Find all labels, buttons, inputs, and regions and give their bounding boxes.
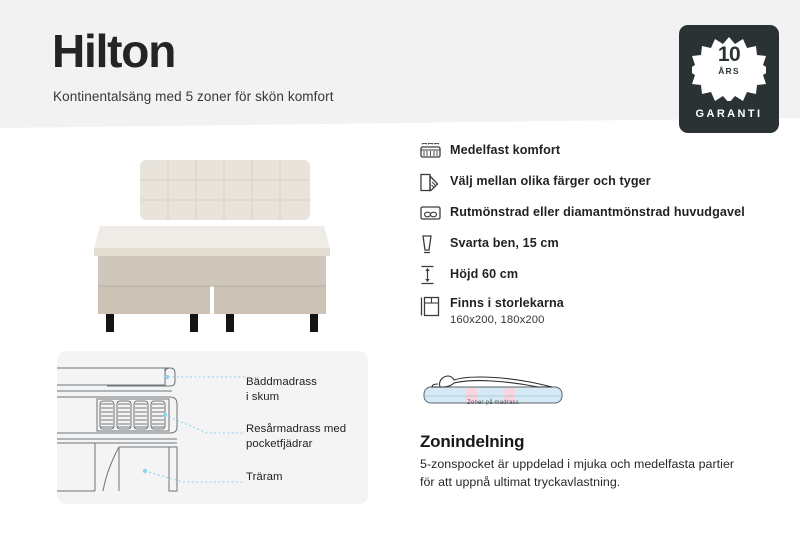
- product-photo: [62, 140, 362, 340]
- callout-item: Träram: [246, 470, 283, 485]
- callout-item: Resårmadrass med pocketfjädrar: [246, 422, 346, 452]
- feature-label: Medelfast komfort: [450, 139, 560, 157]
- feature-item: Höjd 60 cm: [420, 263, 790, 294]
- feature-label: Höjd 60 cm: [450, 263, 518, 281]
- feature-label: Finns i storlekarna: [450, 292, 564, 310]
- callout-line1: Resårmadrass med: [246, 422, 346, 437]
- feature-list: Medelfast komfort Välj mellan olika färg…: [420, 139, 790, 326]
- mattress-icon: [420, 139, 450, 163]
- feature-label: Rutmönstrad eller diamantmönstrad huvudg…: [450, 201, 745, 219]
- fabric-swatch-icon: [420, 170, 450, 194]
- guarantee-badge: 10 ÅRS GARANTI: [679, 25, 779, 133]
- zone-illustration-caption: Zoner på madrass: [418, 400, 568, 406]
- feature-label: Välj mellan olika färger och tyger: [450, 170, 651, 188]
- page-title: Hilton: [52, 28, 175, 74]
- bed-size-icon: [420, 294, 450, 318]
- callout-line2: i skum: [246, 390, 317, 405]
- badge-guarantee-label: GARANTI: [679, 108, 779, 120]
- page-subtitle: Kontinentalsäng med 5 zoner för skön kom…: [53, 89, 334, 104]
- feature-item: Rutmönstrad eller diamantmönstrad huvudg…: [420, 201, 790, 232]
- product-info-sheet: Hilton Kontinentalsäng med 5 zoner för s…: [0, 0, 800, 533]
- callout-line1: Bäddmadrass: [246, 375, 317, 390]
- feature-item: Medelfast komfort: [420, 139, 790, 170]
- headboard-icon: [420, 201, 450, 225]
- callout-item: Bäddmadrass i skum: [246, 375, 317, 405]
- badge-years: 10: [679, 43, 779, 67]
- badge-years-unit: ÅRS: [679, 66, 779, 76]
- callout-line1: Träram: [246, 470, 283, 485]
- feature-label: Svarta ben, 15 cm: [450, 232, 559, 250]
- feature-sublabel: 160x200, 180x200: [450, 314, 564, 326]
- height-arrow-icon: [420, 263, 450, 287]
- feature-item: Finns i storlekarna 160x200, 180x200: [420, 294, 790, 326]
- zone-section-body: 5-zonspocket är uppdelad i mjuka och med…: [420, 456, 750, 492]
- feature-item: Svarta ben, 15 cm: [420, 232, 790, 263]
- bed-leg-icon: [420, 232, 450, 256]
- feature-item: Välj mellan olika färger och tyger: [420, 170, 790, 201]
- zone-section-title: Zonindelning: [420, 432, 524, 452]
- callout-line2: pocketfjädrar: [246, 437, 346, 452]
